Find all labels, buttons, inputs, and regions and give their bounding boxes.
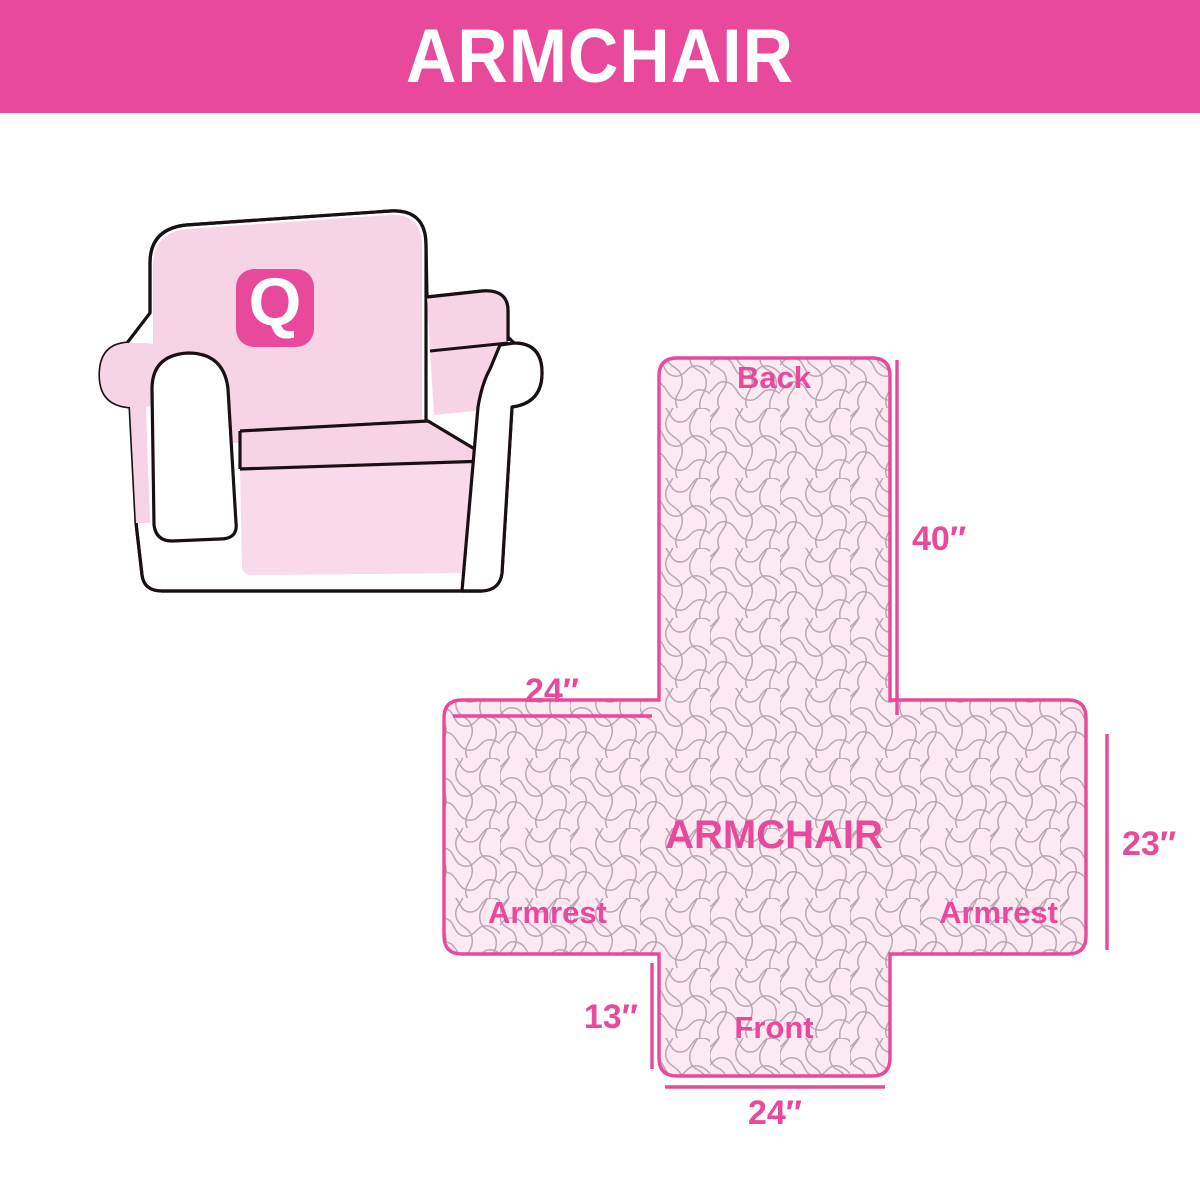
label-front: Front — [734, 1010, 813, 1045]
label-back: Back — [737, 360, 812, 395]
size-chart-page: ARMCHAIR — [0, 0, 1200, 1200]
cover-diagram-svg: Back ARMCHAIR Armrest Armrest Front 40″ … — [430, 338, 1200, 1148]
dimension-front-width: 24″ — [748, 1094, 802, 1132]
brand-badge-letter: Q — [249, 264, 302, 340]
cover-flat-diagram: Back ARMCHAIR Armrest Armrest Front 40″ … — [430, 338, 1200, 1148]
dimension-front-height: 13″ — [584, 998, 638, 1036]
content-stage: Q — [0, 113, 1200, 1200]
label-center-armchair: ARMCHAIR — [665, 813, 883, 857]
dimension-body-height: 23″ — [1122, 825, 1176, 863]
brand-badge: Q — [236, 264, 314, 347]
header-banner: ARMCHAIR — [0, 0, 1200, 113]
dimension-back-width: 24″ — [525, 672, 579, 710]
label-armrest-left: Armrest — [488, 895, 607, 930]
chair-left-arm — [152, 353, 236, 541]
dimension-back-height: 40″ — [912, 520, 966, 558]
label-armrest-right: Armrest — [939, 895, 1058, 930]
page-title: ARMCHAIR — [406, 19, 794, 95]
